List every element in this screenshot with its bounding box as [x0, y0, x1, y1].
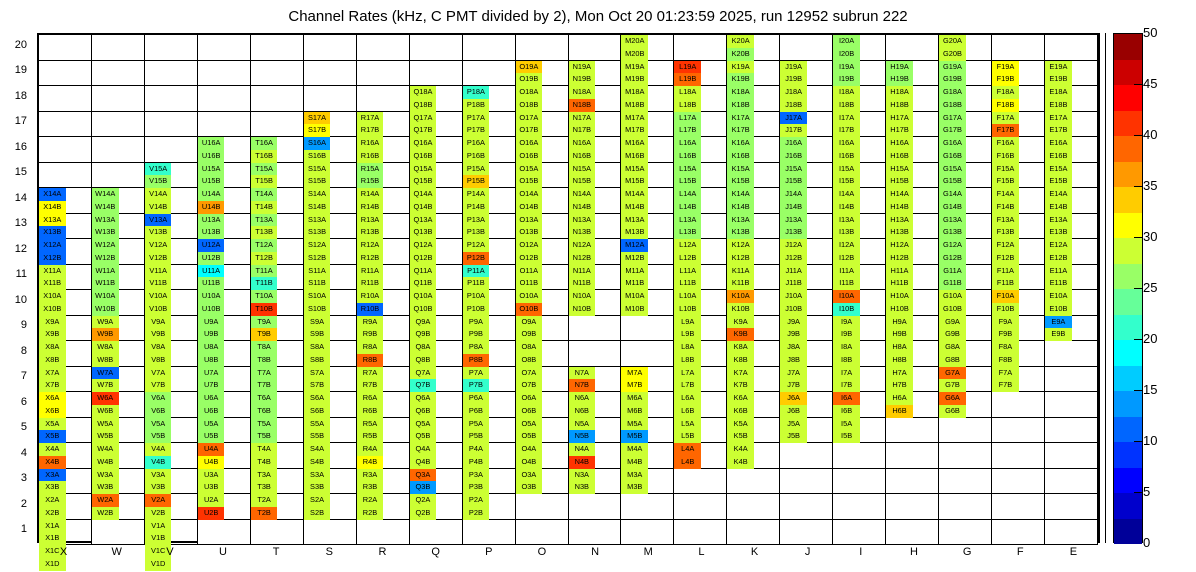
channel-subcell[interactable]: K16A	[727, 137, 754, 150]
channel-subcell[interactable]: J11A	[780, 265, 807, 278]
channel-subcell[interactable]: G15A	[939, 163, 966, 176]
channel-subcell[interactable]: S9A	[304, 316, 331, 329]
channel-subcell[interactable]: X12A	[39, 239, 66, 252]
heatmap-cell[interactable]: N6AN6BN6CN6D	[569, 392, 622, 418]
heatmap-cell[interactable]: R14AR14BR14CR14D	[357, 188, 410, 214]
channel-subcell[interactable]: L9B	[674, 328, 701, 341]
channel-subcell[interactable]: K18A	[727, 86, 754, 99]
channel-subcell[interactable]: V3A	[145, 469, 172, 482]
channel-subcell[interactable]: M18A	[621, 86, 648, 99]
channel-subcell[interactable]: S3B	[304, 481, 331, 494]
channel-subcell[interactable]: J18A	[780, 86, 807, 99]
heatmap-cell[interactable]: K15AK15BK15CK15D	[727, 163, 780, 189]
heatmap-cell[interactable]: N13AN13BN13CN13D	[569, 214, 622, 240]
heatmap-cell-empty[interactable]	[251, 112, 304, 138]
heatmap-cell-empty[interactable]	[939, 418, 992, 444]
heatmap-cell[interactable]: L13AL13BL13CL13D	[674, 214, 727, 240]
heatmap-cell-empty[interactable]	[145, 61, 198, 87]
heatmap-cell-empty[interactable]	[463, 520, 516, 546]
heatmap-cell[interactable]: G18AG18BG18CG18D	[939, 86, 992, 112]
channel-subcell[interactable]: G20B	[939, 48, 966, 61]
heatmap-cell[interactable]: L5AL5BL5CL5D	[674, 418, 727, 444]
heatmap-cell[interactable]: T13AT13BT13CT13D	[251, 214, 304, 240]
heatmap-cell-empty[interactable]	[569, 35, 622, 61]
channel-subcell[interactable]: S12B	[304, 252, 331, 265]
channel-subcell[interactable]: O18B	[516, 99, 543, 112]
channel-subcell[interactable]: E16A	[1045, 137, 1072, 150]
heatmap-cell[interactable]: W10AW10BW10CW10D	[92, 290, 145, 316]
heatmap-cell-empty[interactable]	[674, 35, 727, 61]
channel-subcell[interactable]: V7A	[145, 367, 172, 380]
channel-subcell[interactable]: H16A	[886, 137, 913, 150]
heatmap-cell[interactable]: U11AU11BU11CU11D	[198, 265, 251, 291]
channel-subcell[interactable]: R15B	[357, 175, 384, 188]
channel-subcell[interactable]: J7B	[780, 379, 807, 392]
channel-subcell[interactable]: U4A	[198, 443, 225, 456]
heatmap-cell-empty[interactable]	[357, 35, 410, 61]
channel-subcell[interactable]: H18B	[886, 99, 913, 112]
heatmap-cell[interactable]: O4AO4BO4CO4D	[516, 443, 569, 469]
heatmap-cell[interactable]: X13AX13BX13CX13D	[39, 214, 92, 240]
channel-subcell[interactable]: K18B	[727, 99, 754, 112]
heatmap-cell[interactable]: I7AI7BI7CI7D	[833, 367, 886, 393]
heatmap-cell-empty[interactable]	[92, 61, 145, 87]
heatmap-cell[interactable]: L4AL4BL4CL4D	[674, 443, 727, 469]
heatmap-cell[interactable]: M3AM3BM3CM3D	[621, 469, 674, 495]
channel-subcell[interactable]: N10B	[569, 303, 596, 316]
heatmap-cell[interactable]: M18AM18BM18CM18D	[621, 86, 674, 112]
channel-subcell[interactable]: J17A	[780, 112, 807, 125]
channel-subcell[interactable]: N14A	[569, 188, 596, 201]
channel-subcell[interactable]: V12B	[145, 252, 172, 265]
channel-subcell[interactable]: U13B	[198, 226, 225, 239]
channel-subcell[interactable]: T8B	[251, 354, 278, 367]
channel-subcell[interactable]: E9A	[1045, 316, 1072, 329]
channel-subcell[interactable]: R10B	[357, 303, 384, 316]
heatmap-cell-empty[interactable]	[886, 469, 939, 495]
heatmap-cell[interactable]: Q2AQ2BQ2CQ2D	[410, 494, 463, 520]
heatmap-cell[interactable]: K9AK9BK9CK9D	[727, 316, 780, 342]
channel-subcell[interactable]: O19B	[516, 73, 543, 86]
channel-subcell[interactable]: F10B	[992, 303, 1019, 316]
heatmap-cell[interactable]: N7AN7BN7CN7D	[569, 367, 622, 393]
channel-subcell[interactable]: R17B	[357, 124, 384, 137]
heatmap-cell-empty[interactable]	[304, 35, 357, 61]
channel-subcell[interactable]: X1B	[39, 532, 66, 545]
heatmap-cell[interactable]: I19AI19BI19CI19D	[833, 61, 886, 87]
channel-subcell[interactable]: L6B	[674, 405, 701, 418]
heatmap-cell-empty[interactable]	[727, 469, 780, 495]
heatmap-cell[interactable]: W12AW12BW12CW12D	[92, 239, 145, 265]
channel-subcell[interactable]: P2B	[463, 507, 490, 520]
heatmap-cell[interactable]: R4AR4BR4CR4D	[357, 443, 410, 469]
heatmap-cell[interactable]: V15AV15BV15CV15D	[145, 163, 198, 189]
channel-subcell[interactable]: F8A	[992, 341, 1019, 354]
heatmap-cell[interactable]: L12AL12BL12CL12D	[674, 239, 727, 265]
channel-subcell[interactable]: G17A	[939, 112, 966, 125]
channel-subcell[interactable]: P16A	[463, 137, 490, 150]
heatmap-cell[interactable]: I14AI14BI14CI14D	[833, 188, 886, 214]
channel-subcell[interactable]: O15A	[516, 163, 543, 176]
channel-subcell[interactable]: I8A	[833, 341, 860, 354]
channel-subcell[interactable]: J9B	[780, 328, 807, 341]
heatmap-cell[interactable]: J6AJ6BJ6CJ6D	[780, 392, 833, 418]
channel-subcell[interactable]: I13A	[833, 214, 860, 227]
heatmap-cell[interactable]: E9AE9BE9CE9D	[1045, 316, 1098, 342]
heatmap-cell[interactable]: L7AL7BL7CL7D	[674, 367, 727, 393]
channel-subcell[interactable]: U11B	[198, 277, 225, 290]
channel-subcell[interactable]: W7B	[92, 379, 119, 392]
channel-subcell[interactable]: X12B	[39, 252, 66, 265]
channel-subcell[interactable]: M5A	[621, 418, 648, 431]
channel-subcell[interactable]: I9B	[833, 328, 860, 341]
heatmap-cell-empty[interactable]	[780, 469, 833, 495]
channel-subcell[interactable]: I17B	[833, 124, 860, 137]
channel-subcell[interactable]: P3B	[463, 481, 490, 494]
heatmap-cell[interactable]: K13AK13BK13CK13D	[727, 214, 780, 240]
channel-subcell[interactable]: K15B	[727, 175, 754, 188]
channel-subcell[interactable]: G7A	[939, 367, 966, 380]
channel-subcell[interactable]: L8A	[674, 341, 701, 354]
heatmap-cell[interactable]: J7AJ7BJ7CJ7D	[780, 367, 833, 393]
channel-subcell[interactable]: H15B	[886, 175, 913, 188]
channel-subcell[interactable]: L18A	[674, 86, 701, 99]
channel-subcell[interactable]: E18A	[1045, 86, 1072, 99]
channel-subcell[interactable]: L19A	[674, 61, 701, 74]
channel-subcell[interactable]: T4B	[251, 456, 278, 469]
heatmap-cell[interactable]: T11AT11BT11CT11D	[251, 265, 304, 291]
channel-subcell[interactable]: V9A	[145, 316, 172, 329]
channel-subcell[interactable]: V12A	[145, 239, 172, 252]
channel-subcell[interactable]: G14A	[939, 188, 966, 201]
channel-subcell[interactable]: O5A	[516, 418, 543, 431]
channel-subcell[interactable]: T12B	[251, 252, 278, 265]
channel-subcell[interactable]: R16B	[357, 150, 384, 163]
heatmap-cell[interactable]: R7AR7BR7CR7D	[357, 367, 410, 393]
channel-subcell[interactable]: T5B	[251, 430, 278, 443]
channel-subcell[interactable]: Q2A	[410, 494, 437, 507]
heatmap-cell-empty[interactable]	[1045, 418, 1098, 444]
channel-subcell[interactable]: S3A	[304, 469, 331, 482]
channel-subcell[interactable]: O9B	[516, 328, 543, 341]
channel-subcell[interactable]: I5B	[833, 430, 860, 443]
channel-subcell[interactable]: Q9B	[410, 328, 437, 341]
channel-subcell[interactable]: Q2B	[410, 507, 437, 520]
heatmap-cell-empty[interactable]	[357, 61, 410, 87]
channel-subcell[interactable]: S11A	[304, 265, 331, 278]
channel-subcell[interactable]: O13A	[516, 214, 543, 227]
heatmap-cell[interactable]: P8AP8BP8CP8D	[463, 341, 516, 367]
channel-subcell[interactable]: H17B	[886, 124, 913, 137]
heatmap-cell-empty[interactable]	[621, 341, 674, 367]
channel-subcell[interactable]: V4A	[145, 443, 172, 456]
channel-subcell[interactable]: M10B	[621, 303, 648, 316]
channel-subcell[interactable]: L4B	[674, 456, 701, 469]
heatmap-cell-empty[interactable]	[198, 35, 251, 61]
heatmap-cell[interactable]: H17AH17BH17CH17D	[886, 112, 939, 138]
heatmap-cell[interactable]: O9AO9BO9CO9D	[516, 316, 569, 342]
heatmap-cell[interactable]: W9AW9BW9CW9D	[92, 316, 145, 342]
heatmap-cell[interactable]: Q11AQ11BQ11CQ11D	[410, 265, 463, 291]
heatmap-cell[interactable]: S2AS2BS2CS2D	[304, 494, 357, 520]
channel-subcell[interactable]: T15B	[251, 175, 278, 188]
heatmap-cell[interactable]: M7AM7BM7CM7D	[621, 367, 674, 393]
channel-subcell[interactable]: U14A	[198, 188, 225, 201]
heatmap-cell-empty[interactable]	[198, 61, 251, 87]
heatmap-cell[interactable]: X10AX10BX10CX10D	[39, 290, 92, 316]
heatmap-cell[interactable]: Q14AQ14BQ14CQ14D	[410, 188, 463, 214]
channel-subcell[interactable]: Q13A	[410, 214, 437, 227]
channel-subcell[interactable]: W3A	[92, 469, 119, 482]
channel-subcell[interactable]: H13B	[886, 226, 913, 239]
heatmap-cell[interactable]: O14AO14BO14CO14D	[516, 188, 569, 214]
heatmap-cell-empty[interactable]	[727, 494, 780, 520]
channel-subcell[interactable]: P8A	[463, 341, 490, 354]
channel-subcell[interactable]: V2B	[145, 507, 172, 520]
heatmap-cell[interactable]: R10AR10BR10CR10D	[357, 290, 410, 316]
heatmap-cell[interactable]: Q3AQ3BQ3CQ3D	[410, 469, 463, 495]
channel-subcell[interactable]: I14A	[833, 188, 860, 201]
channel-subcell[interactable]: I13B	[833, 226, 860, 239]
heatmap-cell[interactable]: K10AK10BK10CK10D	[727, 290, 780, 316]
heatmap-cell-empty[interactable]	[886, 418, 939, 444]
heatmap-cell[interactable]: R13AR13BR13CR13D	[357, 214, 410, 240]
heatmap-cell[interactable]: J18AJ18BJ18CJ18D	[780, 86, 833, 112]
channel-subcell[interactable]: I12B	[833, 252, 860, 265]
heatmap-cell-empty[interactable]	[198, 520, 251, 546]
channel-subcell[interactable]: X13A	[39, 214, 66, 227]
heatmap-cell[interactable]: R15AR15BR15CR15D	[357, 163, 410, 189]
channel-subcell[interactable]: J17B	[780, 124, 807, 137]
heatmap-cell-empty[interactable]	[1045, 494, 1098, 520]
heatmap-cell[interactable]: W7AW7BW7CW7D	[92, 367, 145, 393]
channel-subcell[interactable]: X5B	[39, 430, 66, 443]
heatmap-cell-empty[interactable]	[780, 35, 833, 61]
channel-subcell[interactable]: I12A	[833, 239, 860, 252]
heatmap-cell-empty[interactable]	[780, 443, 833, 469]
heatmap-cell[interactable]: E15AE15BE15CE15D	[1045, 163, 1098, 189]
heatmap-cell[interactable]: G7AG7BG7CG7D	[939, 367, 992, 393]
heatmap-cell-empty[interactable]	[304, 520, 357, 546]
channel-subcell[interactable]: Q8B	[410, 354, 437, 367]
heatmap-cell[interactable]: E10AE10BE10CE10D	[1045, 290, 1098, 316]
heatmap-cell[interactable]: J10AJ10BJ10CJ10D	[780, 290, 833, 316]
channel-subcell[interactable]: L7A	[674, 367, 701, 380]
channel-subcell[interactable]: N17A	[569, 112, 596, 125]
heatmap-cell[interactable]: N11AN11BN11CN11D	[569, 265, 622, 291]
channel-subcell[interactable]: P10A	[463, 290, 490, 303]
heatmap-cell[interactable]: J15AJ15BJ15CJ15D	[780, 163, 833, 189]
channel-subcell[interactable]: H7A	[886, 367, 913, 380]
channel-subcell[interactable]: I10B	[833, 303, 860, 316]
heatmap-cell[interactable]: N17AN17BN17CN17D	[569, 112, 622, 138]
channel-subcell[interactable]: N4B	[569, 456, 596, 469]
channel-subcell[interactable]: F13B	[992, 226, 1019, 239]
heatmap-cell[interactable]: K18AK18BK18CK18D	[727, 86, 780, 112]
channel-subcell[interactable]: P18B	[463, 99, 490, 112]
channel-subcell[interactable]: X2A	[39, 494, 66, 507]
channel-subcell[interactable]: X9B	[39, 328, 66, 341]
channel-subcell[interactable]: N10A	[569, 290, 596, 303]
channel-subcell[interactable]: O6A	[516, 392, 543, 405]
heatmap-cell-empty[interactable]	[92, 112, 145, 138]
heatmap-cell[interactable]: V4AV4BV4CV4D	[145, 443, 198, 469]
heatmap-cell[interactable]: V3AV3BV3CV3D	[145, 469, 198, 495]
heatmap-cell[interactable]: V5AV5BV5CV5D	[145, 418, 198, 444]
heatmap-cell-empty[interactable]	[569, 494, 622, 520]
heatmap-cell-empty[interactable]	[516, 35, 569, 61]
channel-subcell[interactable]: R4A	[357, 443, 384, 456]
channel-subcell[interactable]: G15B	[939, 175, 966, 188]
channel-subcell[interactable]: V5B	[145, 430, 172, 443]
channel-subcell[interactable]: Q5A	[410, 418, 437, 431]
channel-subcell[interactable]: J16A	[780, 137, 807, 150]
heatmap-cell[interactable]: T16AT16BT16CT16D	[251, 137, 304, 163]
channel-subcell[interactable]: O4A	[516, 443, 543, 456]
channel-subcell[interactable]: R4B	[357, 456, 384, 469]
channel-subcell[interactable]: M4A	[621, 443, 648, 456]
channel-subcell[interactable]: K17B	[727, 124, 754, 137]
channel-subcell[interactable]: X13B	[39, 226, 66, 239]
heatmap-cell[interactable]: M11AM11BM11CM11D	[621, 265, 674, 291]
heatmap-cell[interactable]: V7AV7BV7CV7D	[145, 367, 198, 393]
channel-subcell[interactable]: J6B	[780, 405, 807, 418]
heatmap-cell[interactable]: H14AH14BH14CH14D	[886, 188, 939, 214]
channel-subcell[interactable]: Q5B	[410, 430, 437, 443]
heatmap-cell-empty[interactable]	[463, 61, 516, 87]
channel-subcell[interactable]: R11B	[357, 277, 384, 290]
channel-subcell[interactable]: W11B	[92, 277, 119, 290]
channel-subcell[interactable]: H11A	[886, 265, 913, 278]
channel-subcell[interactable]: J14A	[780, 188, 807, 201]
heatmap-cell[interactable]: E12AE12BE12CE12D	[1045, 239, 1098, 265]
channel-subcell[interactable]: M7B	[621, 379, 648, 392]
channel-subcell[interactable]: P6A	[463, 392, 490, 405]
heatmap-cell[interactable]: F12AF12BF12CF12D	[992, 239, 1045, 265]
heatmap-cell[interactable]: J14AJ14BJ14CJ14D	[780, 188, 833, 214]
heatmap-cell[interactable]: R6AR6BR6CR6D	[357, 392, 410, 418]
channel-subcell[interactable]: V13A	[145, 214, 172, 227]
heatmap-cell-empty[interactable]	[992, 443, 1045, 469]
channel-subcell[interactable]: F9A	[992, 316, 1019, 329]
channel-subcell[interactable]: W3B	[92, 481, 119, 494]
channel-subcell[interactable]: K5A	[727, 418, 754, 431]
channel-subcell[interactable]: R9A	[357, 316, 384, 329]
channel-subcell[interactable]: M19B	[621, 73, 648, 86]
heatmap-cell[interactable]: V14AV14BV14CV14D	[145, 188, 198, 214]
heatmap-cell[interactable]: K12AK12BK12CK12D	[727, 239, 780, 265]
channel-subcell[interactable]: J16B	[780, 150, 807, 163]
channel-subcell[interactable]: L18B	[674, 99, 701, 112]
channel-subcell[interactable]: X3A	[39, 469, 66, 482]
channel-subcell[interactable]: V14B	[145, 201, 172, 214]
channel-subcell[interactable]: V5A	[145, 418, 172, 431]
heatmap-cell[interactable]: L6AL6BL6CL6D	[674, 392, 727, 418]
channel-subcell[interactable]: I7A	[833, 367, 860, 380]
channel-subcell[interactable]: G12B	[939, 252, 966, 265]
heatmap-cell[interactable]: V9AV9BV9CV9D	[145, 316, 198, 342]
channel-subcell[interactable]: E19B	[1045, 73, 1072, 86]
channel-subcell[interactable]: L9A	[674, 316, 701, 329]
channel-subcell[interactable]: K17A	[727, 112, 754, 125]
heatmap-cell[interactable]: O11AO11BO11CO11D	[516, 265, 569, 291]
channel-subcell[interactable]: X11B	[39, 277, 66, 290]
heatmap-cell[interactable]: Q9AQ9BQ9CQ9D	[410, 316, 463, 342]
channel-subcell[interactable]: K20A	[727, 35, 754, 48]
channel-subcell[interactable]: W11A	[92, 265, 119, 278]
channel-subcell[interactable]: I6A	[833, 392, 860, 405]
heatmap-cell[interactable]: P11AP11BP11CP11D	[463, 265, 516, 291]
channel-subcell[interactable]: S16B	[304, 150, 331, 163]
heatmap-cell[interactable]: V2AV2BV2CV2D	[145, 494, 198, 520]
heatmap-cell[interactable]: G15AG15BG15CG15D	[939, 163, 992, 189]
channel-subcell[interactable]: H10A	[886, 290, 913, 303]
heatmap-cell[interactable]: S3AS3BS3CS3D	[304, 469, 357, 495]
channel-subcell[interactable]: H19A	[886, 61, 913, 74]
heatmap-cell[interactable]: Q15AQ15BQ15CQ15D	[410, 163, 463, 189]
heatmap-cell[interactable]: E14AE14BE14CE14D	[1045, 188, 1098, 214]
channel-subcell[interactable]: G6A	[939, 392, 966, 405]
channel-subcell[interactable]: K9B	[727, 328, 754, 341]
channel-subcell[interactable]: P15A	[463, 163, 490, 176]
heatmap-cell-empty[interactable]	[939, 443, 992, 469]
channel-subcell[interactable]: P7A	[463, 367, 490, 380]
channel-subcell[interactable]: T16B	[251, 150, 278, 163]
channel-subcell[interactable]: Q16A	[410, 137, 437, 150]
heatmap-cell[interactable]: J5AJ5BJ5CJ5D	[780, 418, 833, 444]
channel-subcell[interactable]: T7B	[251, 379, 278, 392]
channel-subcell[interactable]: J18B	[780, 99, 807, 112]
channel-subcell[interactable]: S16A	[304, 137, 331, 150]
channel-subcell[interactable]: V13B	[145, 226, 172, 239]
channel-subcell[interactable]: M16A	[621, 137, 648, 150]
heatmap-cell[interactable]: U3AU3BU3CU3D	[198, 469, 251, 495]
channel-subcell[interactable]: U10A	[198, 290, 225, 303]
heatmap-cell[interactable]: G17AG17BG17CG17D	[939, 112, 992, 138]
heatmap-cell[interactable]: T14AT14BT14CT14D	[251, 188, 304, 214]
channel-subcell[interactable]: N6A	[569, 392, 596, 405]
heatmap-cell[interactable]: L11AL11BL11CL11D	[674, 265, 727, 291]
channel-subcell[interactable]: S15A	[304, 163, 331, 176]
channel-subcell[interactable]: R5A	[357, 418, 384, 431]
heatmap-cell[interactable]: T10AT10BT10CT10D	[251, 290, 304, 316]
channel-subcell[interactable]: T2B	[251, 507, 278, 520]
heatmap-cell[interactable]: P16AP16BP16CP16D	[463, 137, 516, 163]
channel-subcell[interactable]: F14B	[992, 201, 1019, 214]
heatmap-cell[interactable]: I8AI8BI8CI8D	[833, 341, 886, 367]
channel-subcell[interactable]: K13A	[727, 214, 754, 227]
channel-subcell[interactable]: Q6A	[410, 392, 437, 405]
heatmap-cell-empty[interactable]	[1045, 367, 1098, 393]
channel-subcell[interactable]: T3B	[251, 481, 278, 494]
heatmap-cell-empty[interactable]	[92, 137, 145, 163]
channel-subcell[interactable]: V10B	[145, 303, 172, 316]
heatmap-cell[interactable]: H16AH16BH16CH16D	[886, 137, 939, 163]
channel-subcell[interactable]: V1A	[145, 520, 172, 533]
channel-subcell[interactable]: V6B	[145, 405, 172, 418]
heatmap-cell[interactable]: I17AI17BI17CI17D	[833, 112, 886, 138]
heatmap-cell-empty[interactable]	[39, 86, 92, 112]
channel-subcell[interactable]: S6A	[304, 392, 331, 405]
channel-subcell[interactable]: G12A	[939, 239, 966, 252]
channel-subcell[interactable]: N18A	[569, 86, 596, 99]
heatmap-cell[interactable]: M10AM10BM10CM10D	[621, 290, 674, 316]
heatmap-cell[interactable]: K20AK20BK20CK20D	[727, 35, 780, 61]
channel-subcell[interactable]: R9B	[357, 328, 384, 341]
heatmap-cell[interactable]: W4AW4BW4CW4D	[92, 443, 145, 469]
channel-subcell[interactable]: X14A	[39, 188, 66, 201]
heatmap-cell-empty[interactable]	[39, 35, 92, 61]
